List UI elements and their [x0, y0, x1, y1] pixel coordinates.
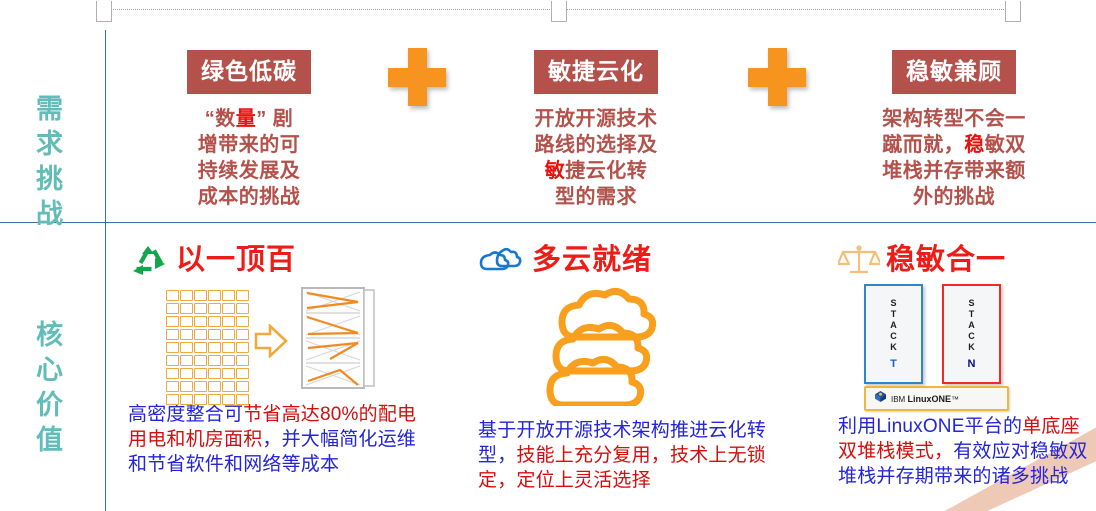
value-card-dual-stack: 稳敏合一 S T A C K T S T A C K N: [838, 240, 1088, 489]
challenge-line: 敏捷云化转: [512, 158, 680, 184]
challenge-body: “数量” 剧 增带来的可 持续发展及 成本的挑战: [160, 106, 338, 210]
challenge-line: 架构转型不会一: [856, 106, 1052, 132]
row-label-core-value: 核 心 价 值: [26, 318, 74, 458]
server-rack-illustration: [300, 286, 378, 395]
challenge-card-agile-cloud: 敏捷云化 开放开源技术 路线的选择及 敏捷云化转 型的需求: [512, 50, 680, 210]
stack-word-char: T: [891, 309, 897, 320]
desc-segment-red: 节省高达: [243, 404, 320, 425]
challenge-text: 捷云化转: [565, 160, 647, 182]
challenge-line: 开放开源技术: [512, 106, 680, 132]
stack-word-char: A: [890, 320, 897, 331]
desc-segment: 高密度整合可: [128, 404, 243, 425]
stack-word-char: S: [890, 298, 896, 309]
row-label-char: 需: [26, 92, 74, 127]
challenge-line: 成本的挑战: [160, 184, 338, 210]
challenge-line: 持续发展及: [160, 158, 338, 184]
challenge-text: “数: [205, 108, 236, 130]
challenge-line: 蹴而就，稳敏双: [856, 132, 1052, 158]
challenge-line: 型的需求: [512, 184, 680, 210]
challenge-body: 架构转型不会一 蹴而就，稳敏双 堆栈并存带来额 外的挑战: [856, 106, 1052, 210]
value-description: 高密度整合可节省高达80%的配电用电和机房面积，并大幅简化运维和节省软件和网络等…: [128, 402, 418, 477]
challenge-text-highlight: 稳: [964, 134, 985, 156]
measure-dotted-line-right: [566, 9, 1008, 10]
challenge-text-highlight: 量: [236, 108, 257, 130]
server-consolidation-diagram: [128, 284, 418, 396]
value-header: 稳敏合一: [838, 240, 1088, 280]
stack-word-char: K: [968, 342, 975, 353]
challenge-text: 蹴而就，: [882, 134, 964, 156]
stack-word-char: S: [968, 298, 974, 309]
stack-word-char: T: [969, 309, 975, 320]
logo-name: LinuxONE: [907, 394, 951, 404]
row-label-demand-challenge: 需 求 挑 战: [26, 92, 74, 232]
linuxone-mark-icon: [874, 390, 887, 408]
challenge-line: “数量” 剧: [160, 106, 338, 132]
row-label-char: 求: [26, 127, 74, 162]
measure-tick-middle: [551, 1, 567, 22]
stack-word-char: C: [890, 331, 897, 342]
challenge-card-green-low-carbon: 绿色低碳 “数量” 剧 增带来的可 持续发展及 成本的挑战: [160, 50, 338, 210]
stack-word-char: C: [968, 331, 975, 342]
stack-box-letter: T: [890, 358, 897, 370]
challenge-text: ” 剧: [256, 108, 293, 130]
dual-stack-linuxone-diagram: S T A C K T S T A C K N: [838, 284, 1088, 412]
challenge-text: 敏双: [985, 134, 1026, 156]
value-header: 多云就绪: [478, 240, 778, 280]
row-label-char: 价: [26, 388, 74, 423]
challenge-caption: 绿色低碳: [187, 50, 311, 94]
value-description: 基于开放开源技术架构推进云化转型，技能上充分复用，技术上无锁定，定位上灵活选择: [478, 418, 778, 493]
balance-scale-icon: [838, 243, 880, 277]
slide-canvas: 需 求 挑 战 核 心 价 值 绿色低碳 “数量” 剧 增带来的可 持续发展及 …: [0, 0, 1096, 511]
logo-prefix: IBM: [891, 395, 905, 404]
row-label-char: 核: [26, 318, 74, 353]
value-title: 多云就绪: [532, 246, 652, 275]
challenge-line: 路线的选择及: [512, 132, 680, 158]
challenge-line: 增带来的可: [160, 132, 338, 158]
measure-dotted-line-left: [104, 9, 554, 10]
value-description: 利用LinuxONE平台的单底座双堆栈模式，有效应对稳敏双堆栈并存期带来的诸多挑…: [838, 414, 1088, 489]
challenge-line: 外的挑战: [856, 184, 1052, 210]
challenge-caption: 稳敏兼顾: [892, 50, 1016, 94]
logo-trademark: ™: [951, 395, 959, 404]
value-card-consolidation: 以一顶百: [128, 240, 418, 477]
measure-tick-start: [96, 1, 112, 22]
challenge-body: 开放开源技术 路线的选择及 敏捷云化转 型的需求: [512, 106, 680, 210]
stack-word-char: A: [968, 320, 975, 331]
top-measure-bar: [0, 0, 1096, 26]
vertical-divider: [105, 30, 106, 511]
value-title: 稳敏合一: [886, 246, 1006, 275]
cloud-icon: [478, 245, 526, 275]
challenge-caption: 敏捷云化: [534, 50, 658, 94]
stack-word-char: K: [890, 342, 897, 353]
plus-icon: [388, 48, 446, 106]
linuxone-logo-text: IBM LinuxONE™: [891, 394, 959, 404]
recycle-icon: [128, 244, 170, 276]
value-card-multicloud: 多云就绪 基于开放开源技术架构推进云化转型，技能上充分复用，技术上无锁定，定位上…: [478, 240, 778, 493]
row-label-char: 战: [26, 197, 74, 232]
ibm-linuxone-logo: IBM LinuxONE™: [864, 386, 1009, 411]
row-label-char: 心: [26, 353, 74, 388]
stack-box-letter: N: [968, 358, 976, 370]
row-label-char: 挑: [26, 162, 74, 197]
desc-segment: 利用LinuxONE平台的: [838, 416, 1022, 437]
stack-box-traditional: S T A C K T: [864, 284, 923, 384]
measure-tick-end: [1005, 1, 1021, 22]
challenge-card-stable-agile-balance: 稳敏兼顾 架构转型不会一 蹴而就，稳敏双 堆栈并存带来额 外的挑战: [856, 50, 1052, 210]
challenge-text-highlight: 敏: [545, 160, 566, 182]
horizontal-divider: [0, 222, 1096, 223]
three-clouds-diagram: [478, 280, 778, 410]
value-header: 以一顶百: [128, 240, 418, 280]
desc-segment-red: 技能上充分复用，技术上无锁定，定位上灵活选择: [478, 445, 766, 491]
value-title: 以一顶百: [176, 246, 296, 275]
row-label-char: 值: [26, 423, 74, 458]
plus-icon: [748, 48, 806, 106]
challenge-line: 堆栈并存带来额: [856, 158, 1052, 184]
server-grid: [166, 290, 248, 405]
arrow-right-icon: [254, 324, 288, 363]
stack-box-new: S T A C K N: [942, 284, 1001, 384]
